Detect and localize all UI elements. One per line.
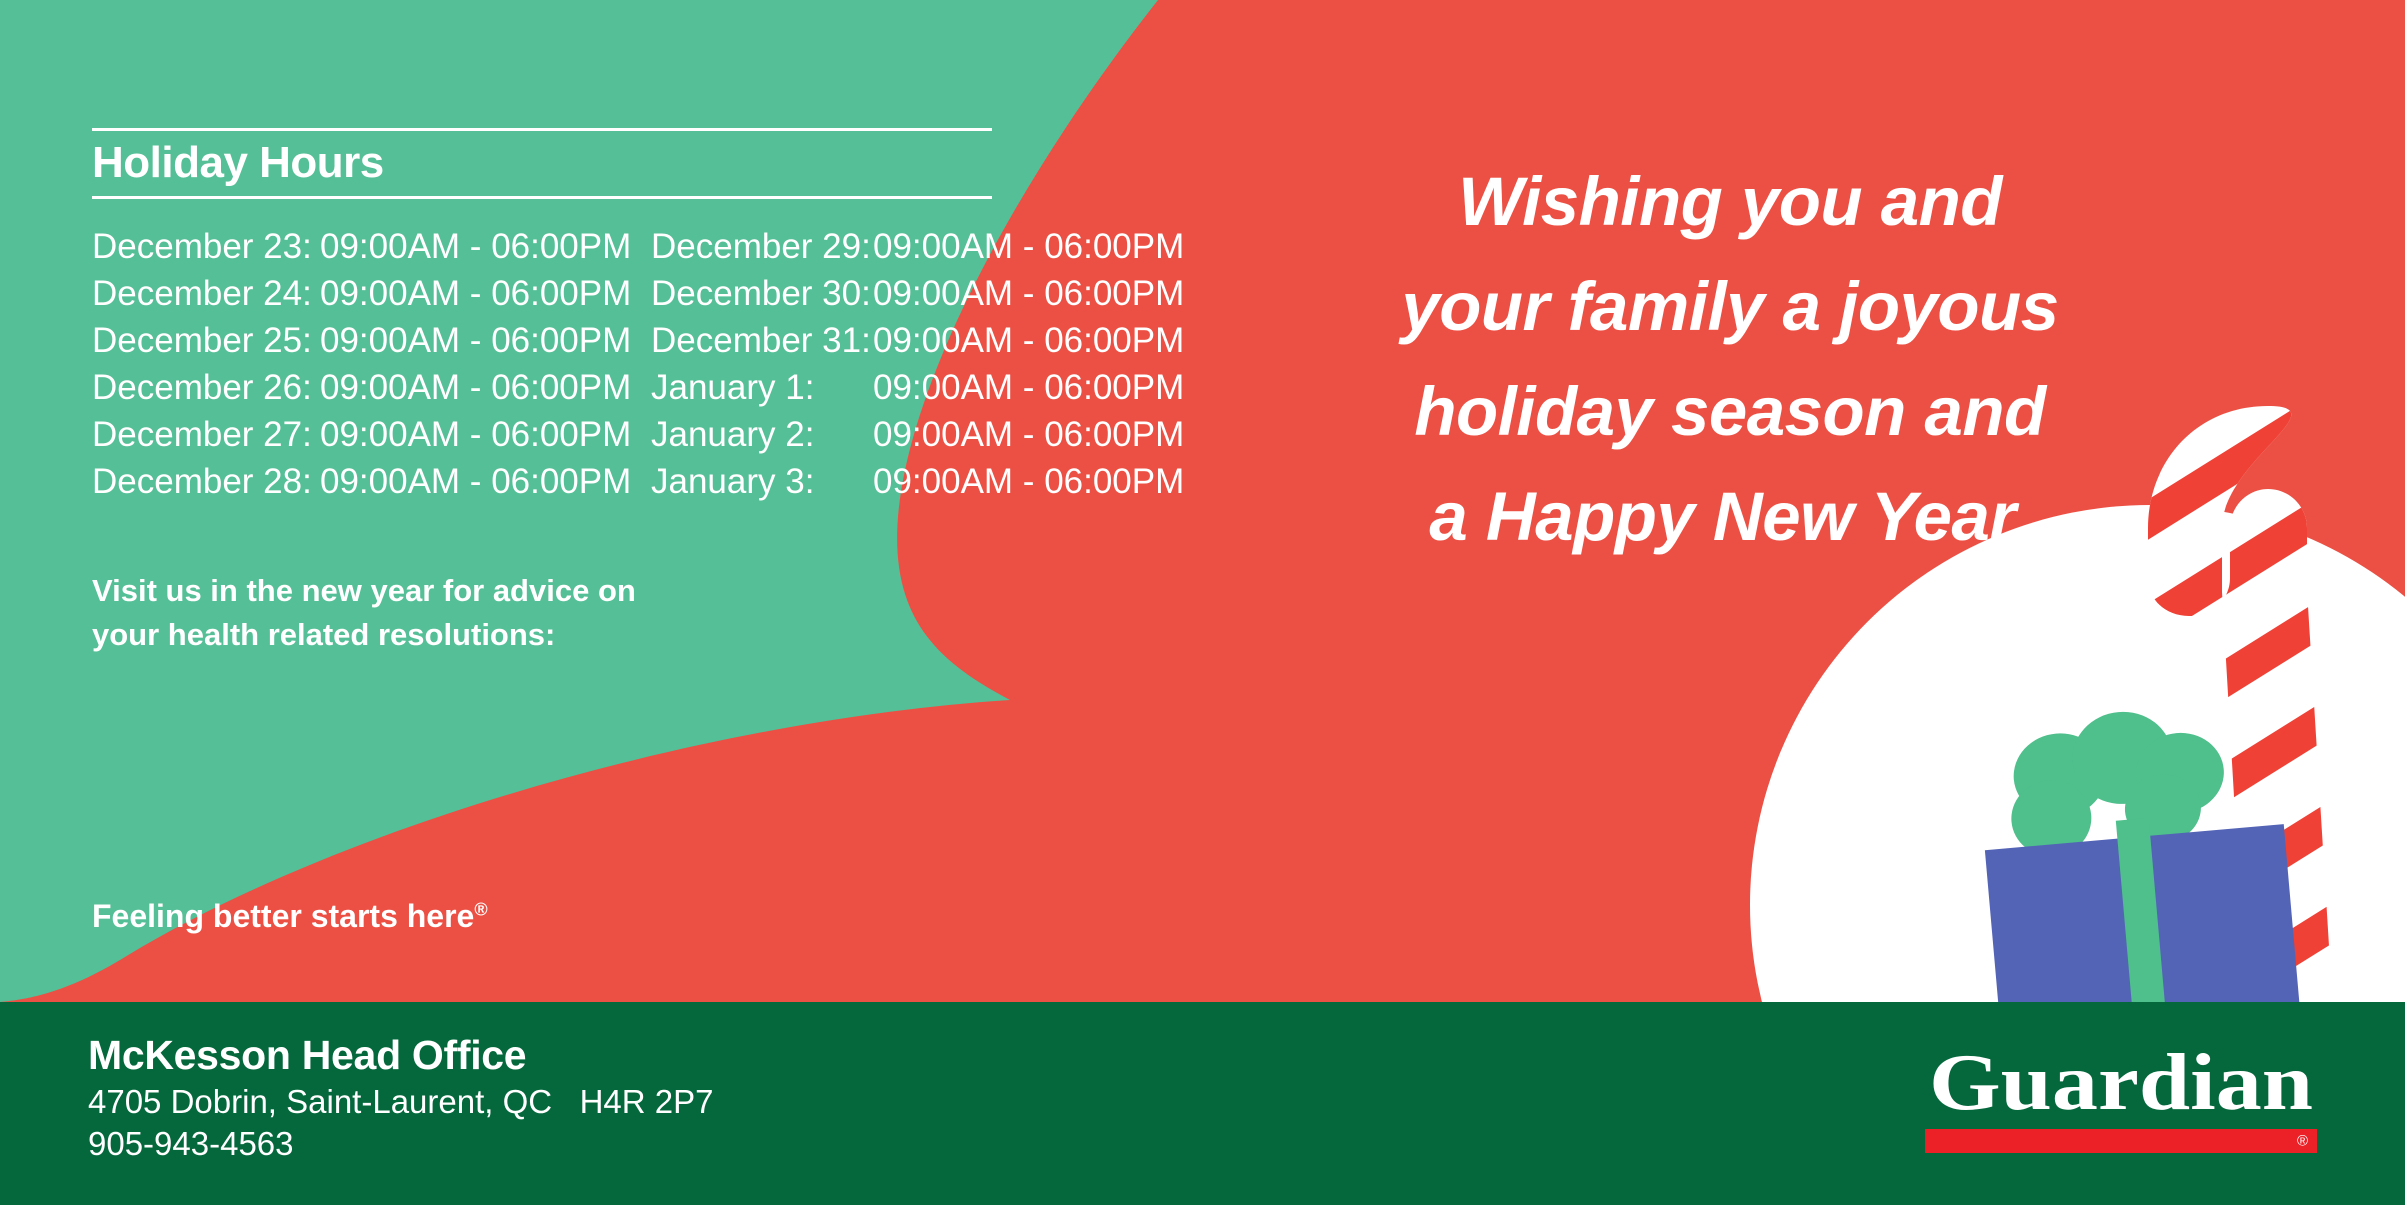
hours-time-value: 09:00AM - 06:00PM	[320, 368, 615, 408]
guardian-registered-icon: ®	[2297, 1134, 2308, 1149]
hours-columns: December 23: 09:00AM - 06:00PM December …	[92, 227, 1112, 509]
hours-row: December 31: 09:00AM - 06:00PM	[651, 321, 1168, 368]
hours-time-value: 09:00AM - 06:00PM	[873, 368, 1168, 408]
hours-time-value: 09:00AM - 06:00PM	[320, 227, 615, 267]
holiday-card: Holiday Hours December 23: 09:00AM - 06:…	[0, 0, 2405, 1205]
hours-row: January 3: 09:00AM - 06:00PM	[651, 462, 1168, 509]
hours-time-value: 09:00AM - 06:00PM	[320, 415, 615, 455]
tagline-text: Feeling better starts here	[92, 898, 474, 934]
office-name: McKesson Head Office	[88, 1030, 714, 1081]
visit-note-line-1: Visit us in the new year for advice on	[92, 569, 792, 613]
hours-date-label: December 23:	[92, 227, 320, 267]
guardian-wordmark-icon: Guardian	[1925, 1046, 2317, 1124]
hours-date-label: December 28:	[92, 462, 320, 502]
guardian-logo: Guardian ®	[1925, 1046, 2317, 1153]
hours-time-value: 09:00AM - 06:00PM	[873, 274, 1168, 314]
hours-row: December 26: 09:00AM - 06:00PM	[92, 368, 615, 415]
hours-date-label: January 2:	[651, 415, 873, 455]
hours-row: January 2: 09:00AM - 06:00PM	[651, 415, 1168, 462]
visit-note-line-2: your health related resolutions:	[92, 613, 792, 657]
hours-row: December 25: 09:00AM - 06:00PM	[92, 321, 615, 368]
hours-row: December 23: 09:00AM - 06:00PM	[92, 227, 615, 274]
footer-bar: McKesson Head Office 4705 Dobrin, Saint-…	[0, 1002, 2405, 1205]
hours-time-value: 09:00AM - 06:00PM	[873, 462, 1168, 502]
hours-time-value: 09:00AM - 06:00PM	[873, 415, 1168, 455]
hours-time-value: 09:00AM - 06:00PM	[320, 462, 615, 502]
hours-row: December 24: 09:00AM - 06:00PM	[92, 274, 615, 321]
hours-date-label: January 3:	[651, 462, 873, 502]
hours-time-value: 09:00AM - 06:00PM	[873, 227, 1168, 267]
greeting-line-1: Wishing you and	[1310, 150, 2150, 255]
hours-date-label: December 26:	[92, 368, 320, 408]
hours-row: December 30: 09:00AM - 06:00PM	[651, 274, 1168, 321]
hours-column-right: December 29: 09:00AM - 06:00PM December …	[651, 227, 1168, 509]
greeting-line-3: holiday season and	[1310, 360, 2150, 465]
office-phone: 905-943-4563	[88, 1123, 714, 1165]
guardian-wordmark-text: Guardian	[1929, 1046, 2313, 1124]
greeting-line-2: your family a joyous	[1310, 255, 2150, 360]
hours-column-left: December 23: 09:00AM - 06:00PM December …	[92, 227, 615, 509]
hours-row: December 27: 09:00AM - 06:00PM	[92, 415, 615, 462]
hours-date-label: December 25:	[92, 321, 320, 361]
guardian-red-bar: ®	[1925, 1129, 2317, 1153]
hours-rule-bottom	[92, 196, 992, 199]
office-street-address: 4705 Dobrin, Saint-Laurent, QC H4R 2P7	[88, 1081, 714, 1123]
registered-trademark-icon: ®	[474, 899, 487, 919]
holiday-hours-title: Holiday Hours	[92, 131, 1112, 196]
visit-note: Visit us in the new year for advice on y…	[92, 569, 792, 658]
hours-date-label: January 1:	[651, 368, 873, 408]
holiday-hours-panel: Holiday Hours December 23: 09:00AM - 06:…	[92, 128, 1112, 509]
greeting-message: Wishing you and your family a joyous hol…	[1310, 150, 2150, 570]
greeting-line-4: a Happy New Year.	[1310, 465, 2150, 570]
hours-row: December 29: 09:00AM - 06:00PM	[651, 227, 1168, 274]
hours-date-label: December 29:	[651, 227, 873, 267]
brand-tagline: Feeling better starts here®	[92, 898, 488, 935]
hours-date-label: December 31:	[651, 321, 873, 361]
hours-date-label: December 24:	[92, 274, 320, 314]
hours-row: January 1: 09:00AM - 06:00PM	[651, 368, 1168, 415]
hours-time-value: 09:00AM - 06:00PM	[320, 321, 615, 361]
hours-row: December 28: 09:00AM - 06:00PM	[92, 462, 615, 509]
hours-time-value: 09:00AM - 06:00PM	[873, 321, 1168, 361]
hours-time-value: 09:00AM - 06:00PM	[320, 274, 615, 314]
footer-address-block: McKesson Head Office 4705 Dobrin, Saint-…	[88, 1030, 714, 1166]
hours-date-label: December 30:	[651, 274, 873, 314]
hours-date-label: December 27:	[92, 415, 320, 455]
